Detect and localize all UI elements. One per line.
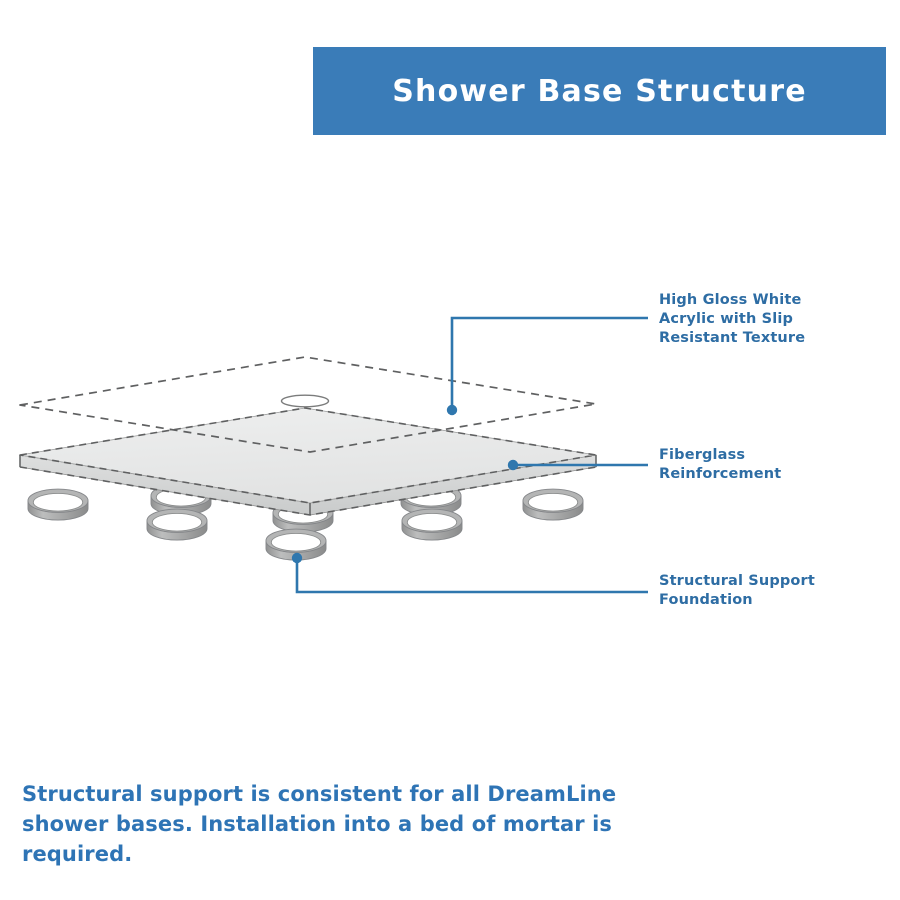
support-ring bbox=[147, 509, 207, 540]
footer-caption: Structural support is consistent for all… bbox=[22, 780, 622, 869]
support-ring bbox=[28, 489, 88, 520]
drain-opening bbox=[282, 395, 329, 407]
diagram-page: Shower Base Structure bbox=[0, 0, 900, 900]
callout-label-fiberglass: Fiberglass Reinforcement bbox=[659, 446, 859, 484]
leader-dot-fiberglass bbox=[508, 460, 518, 470]
leader-dot-acrylic bbox=[447, 405, 457, 415]
support-ring bbox=[523, 489, 583, 520]
callout-label-support: Structural Support Foundation bbox=[659, 572, 869, 610]
support-ring bbox=[402, 509, 462, 540]
callout-label-acrylic: High Gloss White Acrylic with Slip Resis… bbox=[659, 291, 859, 348]
leader-line-support bbox=[297, 558, 648, 592]
leader-dot-support bbox=[292, 553, 302, 563]
